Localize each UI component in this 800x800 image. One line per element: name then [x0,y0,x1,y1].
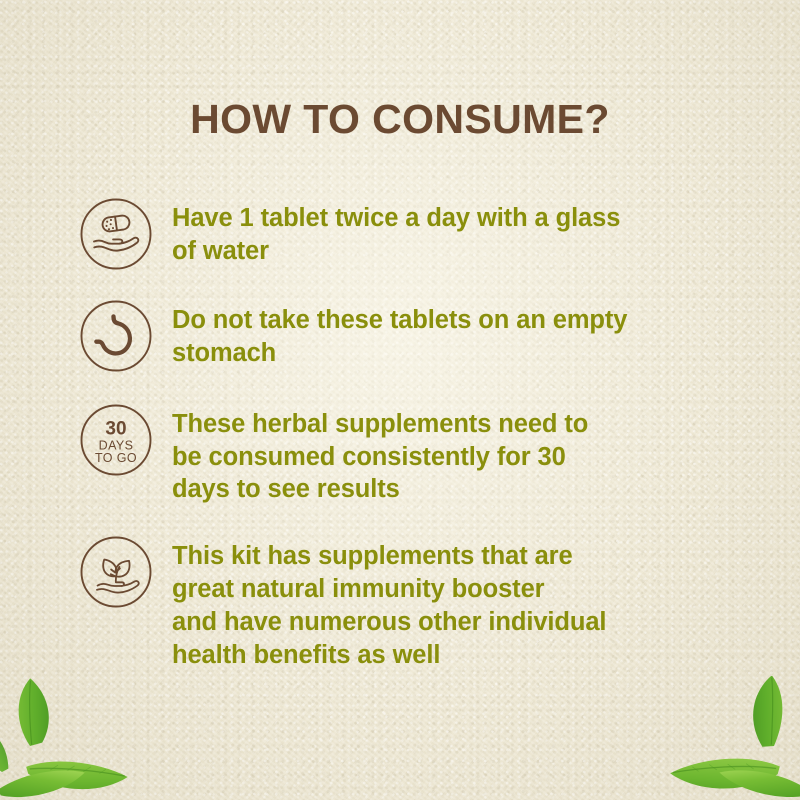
page-title: HOW TO CONSUME? [0,96,800,143]
instruction-item-4: This kit has supplements that are great … [78,534,760,673]
instruction-text-4: This kit has supplements that are great … [172,534,760,673]
how-to-consume-infographic: HOW TO CONSUME? [0,0,800,800]
instruction-item-2: Do not take these tablets on an empty st… [78,298,760,374]
stomach-icon [78,298,154,374]
bottom-right-leaf-decoration [614,676,800,800]
instruction-text-3: These herbal supplements need to be cons… [172,402,760,506]
hand-holding-pill-icon [78,196,154,272]
thirty-days-to-go-icon: 30 DAYS TO GO [78,402,154,478]
instruction-list: Have 1 tablet twice a day with a glass o… [78,196,760,672]
instruction-item-1: Have 1 tablet twice a day with a glass o… [78,196,760,272]
to-go-label: TO GO [95,451,137,465]
hand-holding-leaves-icon [78,534,154,610]
instruction-text-2: Do not take these tablets on an empty st… [172,298,760,369]
instruction-text-1: Have 1 tablet twice a day with a glass o… [172,196,760,267]
instruction-item-3: 30 DAYS TO GO These herbal supplements n… [78,402,760,506]
days-count-label: 30 [105,419,126,440]
bottom-left-leaf-decoration [0,676,200,800]
